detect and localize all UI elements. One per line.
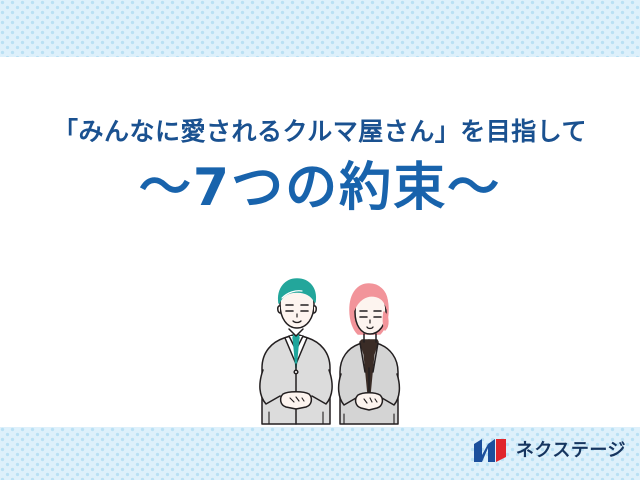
headline-main-text: 「みんなに愛されるクルマ屋さん」を目指して <box>0 118 640 147</box>
male-staff-figure <box>260 279 332 424</box>
nextage-n-mark-icon <box>473 438 509 463</box>
female-staff-figure <box>339 284 400 424</box>
staff-illustration-svg <box>236 272 416 432</box>
promotional-banner: 「みんなに愛されるクルマ屋さん」を目指して 〜7つの約束〜 <box>0 0 640 480</box>
top-dot-band <box>0 0 640 57</box>
nextage-logo[interactable]: ネクステージ <box>473 438 626 463</box>
two-bowing-staff-illustration <box>236 272 416 432</box>
nextage-logo-text: ネクステージ <box>516 442 626 460</box>
headline-block: 「みんなに愛されるクルマ屋さん」を目指して 〜7つの約束〜 <box>0 118 640 215</box>
headline-sub-text: 〜7つの約束〜 <box>0 161 640 216</box>
